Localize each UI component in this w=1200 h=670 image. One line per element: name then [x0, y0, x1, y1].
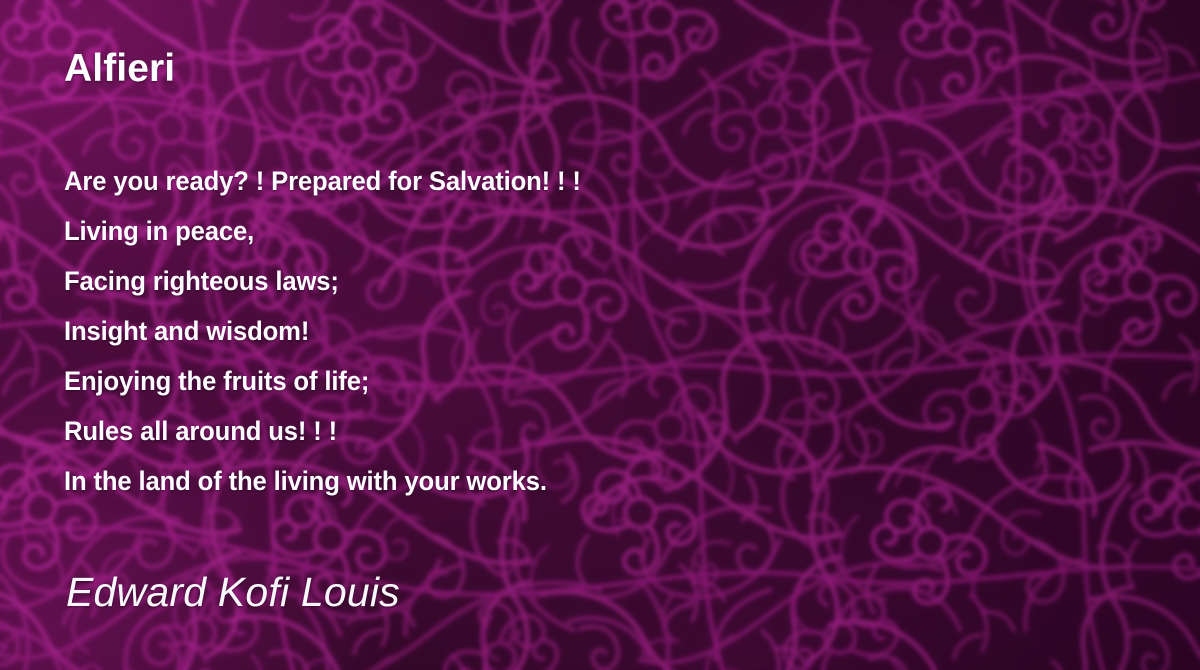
poem-author-byline: Edward Kofi Louis: [66, 572, 400, 613]
poem-content: Alfieri Are you ready? ! Prepared for Sa…: [0, 0, 1200, 670]
poem-title: Alfieri: [64, 49, 175, 88]
poem-line: In the land of the living with your work…: [64, 456, 1014, 506]
poem-line: Enjoying the fruits of life;: [64, 356, 1014, 406]
poem-line: Facing righteous laws;: [64, 256, 1014, 306]
poem-line: Are you ready? ! Prepared for Salvation!…: [64, 156, 1014, 206]
poem-line: Rules all around us! ! !: [64, 406, 1014, 456]
poem-line: Living in peace,: [64, 206, 1014, 256]
poem-line: Insight and wisdom!: [64, 306, 1014, 356]
poem-image: Alfieri Are you ready? ! Prepared for Sa…: [0, 0, 1200, 670]
poem-body: Are you ready? ! Prepared for Salvation!…: [64, 156, 1064, 506]
